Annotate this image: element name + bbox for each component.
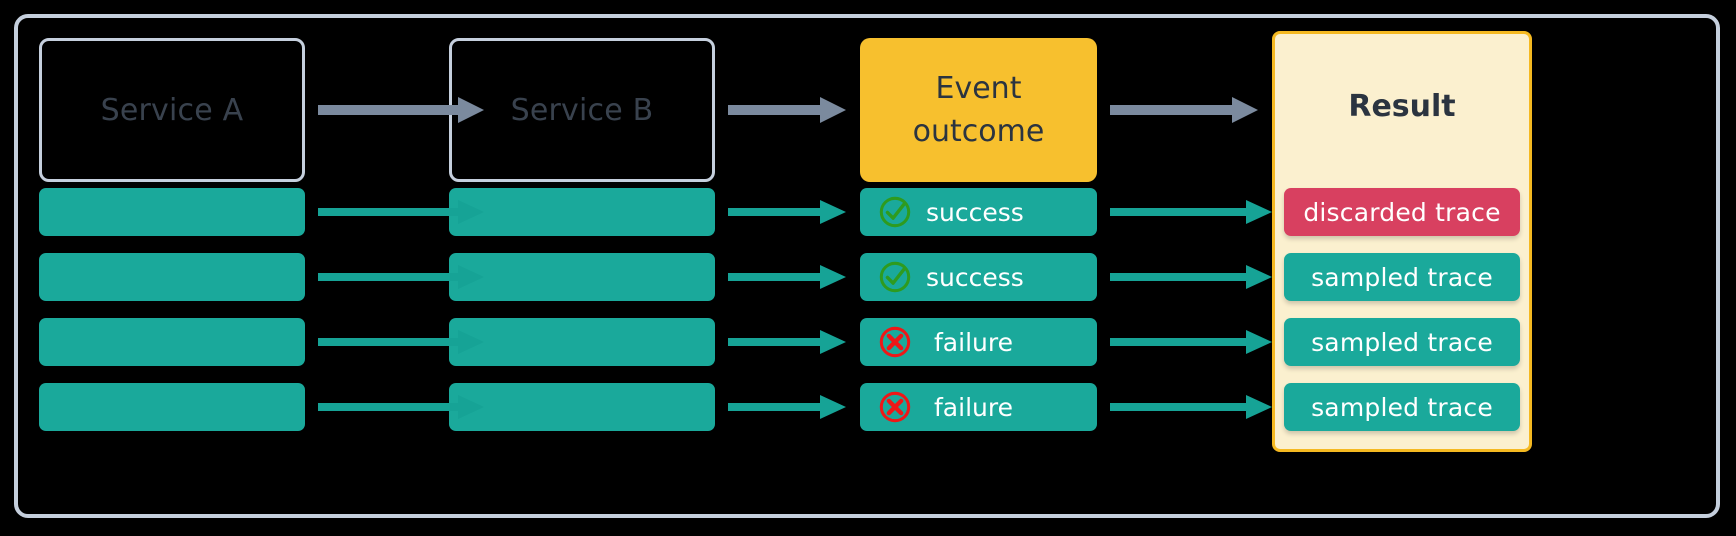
- row-outcome-label: failure: [934, 328, 1013, 357]
- row-outcome-label: success: [926, 198, 1024, 227]
- row-result-label: sampled trace: [1311, 263, 1493, 292]
- column-header-service-b-label: Service B: [511, 93, 654, 128]
- row-result-label: discarded trace: [1303, 198, 1500, 227]
- column-header-event-outcome-label-line1: Event: [913, 67, 1045, 111]
- row-outcome-failure: failure: [860, 318, 1097, 366]
- diagram-canvas: Service A Service B Event outcome Result: [0, 0, 1736, 536]
- row-result-sampled: sampled trace: [1284, 383, 1520, 431]
- row-bar-service-a: [39, 188, 305, 236]
- row-outcome-failure: failure: [860, 383, 1097, 431]
- row-result-label: sampled trace: [1311, 328, 1493, 357]
- row-outcome-label: failure: [934, 393, 1013, 422]
- row-bar-service-b: [449, 383, 715, 431]
- check-circle-icon: [878, 195, 912, 229]
- row-result-label: sampled trace: [1311, 393, 1493, 422]
- column-header-event-outcome-label-line2: outcome: [913, 110, 1045, 154]
- row-outcome-success: success: [860, 188, 1097, 236]
- check-circle-icon: [878, 260, 912, 294]
- row-result-sampled: sampled trace: [1284, 318, 1520, 366]
- row-bar-service-b: [449, 318, 715, 366]
- row-bar-service-a: [39, 253, 305, 301]
- row-bar-service-a: [39, 383, 305, 431]
- row-result-sampled: sampled trace: [1284, 253, 1520, 301]
- column-header-service-a: Service A: [39, 38, 305, 182]
- column-header-event-outcome: Event outcome: [860, 38, 1097, 182]
- x-circle-icon: [878, 325, 912, 359]
- column-header-service-a-label: Service A: [101, 93, 244, 128]
- row-bar-service-a: [39, 318, 305, 366]
- row-outcome-label: success: [926, 263, 1024, 292]
- row-bar-service-b: [449, 253, 715, 301]
- row-outcome-success: success: [860, 253, 1097, 301]
- column-header-result-label: Result: [1275, 34, 1529, 178]
- row-bar-service-b: [449, 188, 715, 236]
- row-result-discarded: discarded trace: [1284, 188, 1520, 236]
- x-circle-icon: [878, 390, 912, 424]
- column-header-service-b: Service B: [449, 38, 715, 182]
